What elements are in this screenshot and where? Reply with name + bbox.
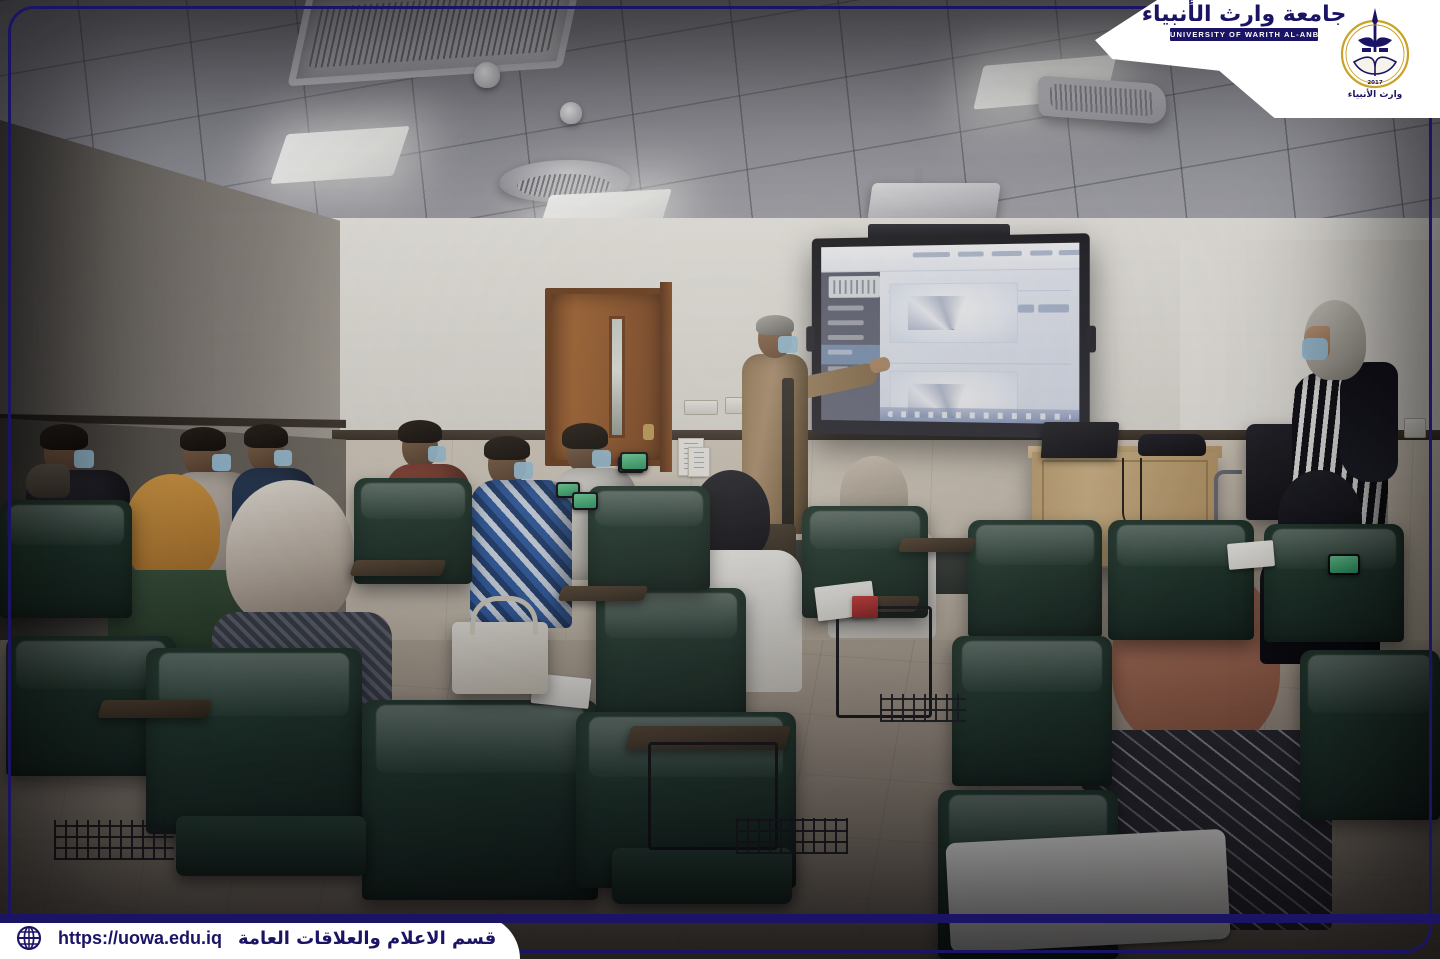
svg-text:2017: 2017 — [1367, 80, 1382, 86]
lecture-chair[interactable] — [588, 486, 710, 590]
screenshot-root: جامعة وارث الأنبياء UNIVERSITY OF WARITH… — [0, 0, 1440, 959]
light-switch-plate[interactable] — [725, 397, 743, 414]
lecture-chair[interactable] — [1108, 520, 1254, 640]
wordmark-bar: UNIVERSITY OF WARITH AL-ANBIYAA — [1170, 28, 1318, 41]
tablet-arm-desk[interactable] — [558, 586, 649, 601]
phone-icon[interactable] — [620, 452, 648, 471]
led-light-panel — [270, 126, 410, 184]
website-url[interactable]: https://uowa.edu.iq — [58, 928, 222, 949]
face-mask-icon — [74, 450, 94, 468]
under-seat-basket — [880, 694, 966, 722]
smoke-detector-icon — [474, 62, 500, 88]
app-logo-icon — [829, 276, 880, 298]
lecture-chair[interactable] — [952, 636, 1112, 786]
board-side-button[interactable] — [1087, 326, 1096, 353]
lecture-chair[interactable] — [968, 520, 1102, 638]
presenter-hand — [869, 356, 892, 374]
power-outlet[interactable] — [1404, 418, 1426, 438]
lecture-chair[interactable] — [596, 588, 746, 720]
svg-text:وارث الأنبياء: وارث الأنبياء — [1348, 88, 1403, 100]
face-mask-icon — [592, 450, 611, 467]
globe-icon — [16, 925, 42, 951]
chair-seat[interactable] — [176, 816, 366, 876]
fur-collar — [26, 464, 70, 498]
light-switch-plate[interactable] — [684, 400, 718, 415]
lecture-chair[interactable] — [362, 700, 598, 900]
phone-icon[interactable] — [572, 492, 598, 510]
face-mask-icon — [778, 336, 798, 353]
red-notebook[interactable] — [852, 596, 878, 618]
lecture-chair[interactable] — [1300, 650, 1440, 820]
face-mask-icon — [212, 454, 231, 471]
presenter-hair — [756, 315, 794, 335]
hijab — [226, 480, 354, 626]
university-seal-emblem: 2017 وارث الأنبياء — [1332, 4, 1418, 108]
lecture-chair[interactable] — [0, 500, 132, 618]
lecture-chair[interactable] — [1264, 524, 1404, 642]
door-handle[interactable] — [643, 424, 654, 440]
smoke-detector-icon — [560, 102, 582, 124]
app-toolbar[interactable] — [821, 243, 1079, 273]
under-seat-basket — [736, 818, 848, 854]
wordmark-english: UNIVERSITY OF WARITH AL-ANBIYAA — [1170, 30, 1318, 39]
chair-seat[interactable] — [612, 848, 792, 904]
white-garment — [945, 829, 1230, 954]
handbag[interactable] — [452, 622, 548, 694]
laptop[interactable] — [1041, 422, 1120, 458]
footer-content: https://uowa.edu.iq قسم الاعلام والعلاقا… — [16, 921, 496, 955]
wordmark-arabic: جامعة وارث الأنبياء — [1142, 4, 1347, 26]
tablet-arm-desk[interactable] — [349, 560, 446, 576]
hijab — [124, 474, 220, 582]
tablet-arm-desk[interactable] — [898, 538, 976, 552]
equipment-bag — [1138, 434, 1206, 456]
face-mask-icon — [274, 450, 292, 466]
shawl — [1340, 362, 1398, 482]
chart-card — [890, 282, 1018, 343]
lecture-hall-photo — [0, 0, 1440, 959]
face-mask-icon — [514, 462, 533, 479]
university-wordmark: جامعة وارث الأنبياء UNIVERSITY OF WARITH… — [1168, 4, 1320, 52]
door-frame — [660, 282, 672, 472]
face-mask-icon — [1302, 338, 1328, 360]
face-mask-icon — [428, 446, 446, 462]
phone-icon[interactable] — [1328, 554, 1360, 575]
department-name: قسم الاعلام والعلاقات العامة — [238, 928, 496, 949]
notebook[interactable] — [1227, 540, 1275, 570]
under-seat-basket — [54, 820, 174, 860]
projector-icon — [867, 183, 1000, 221]
tablet-arm-desk[interactable] — [97, 700, 212, 718]
door-glass-panel — [609, 316, 625, 438]
lecture-chair[interactable] — [146, 648, 362, 834]
